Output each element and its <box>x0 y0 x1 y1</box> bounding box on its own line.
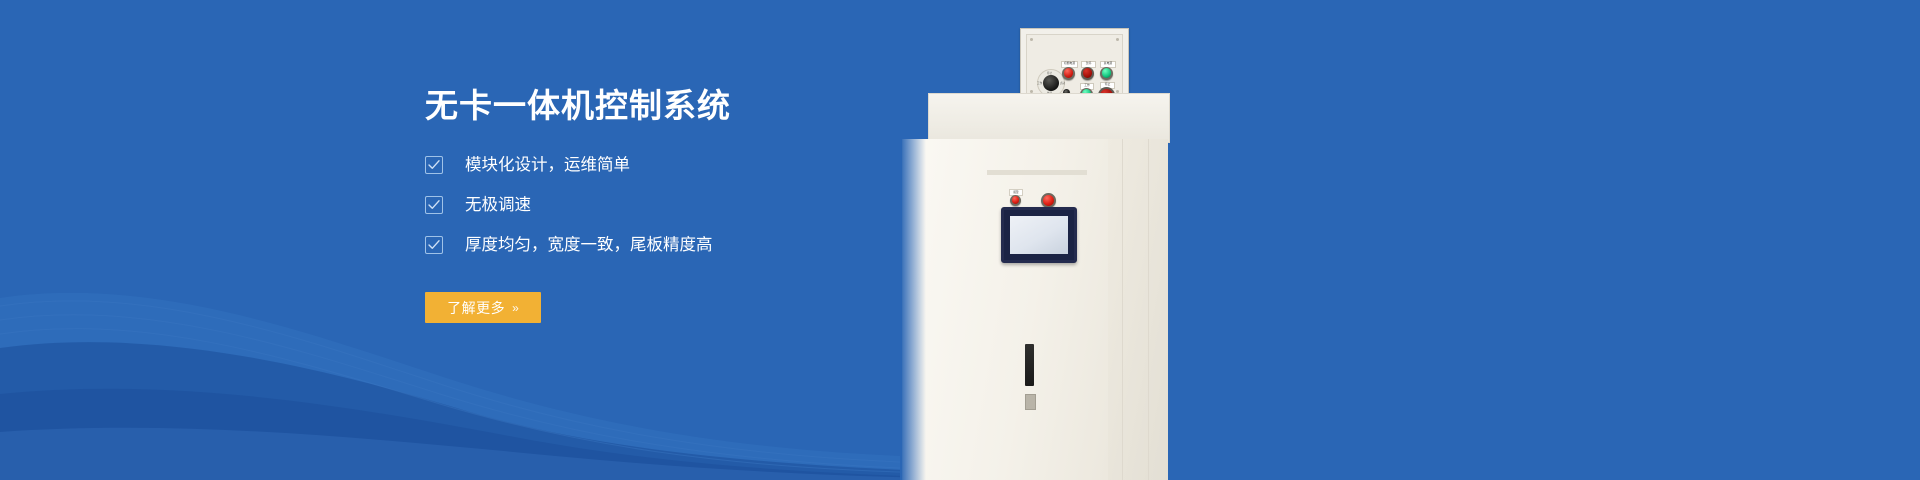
screw-icon <box>1030 38 1033 41</box>
feature-item-3: 厚度均匀，宽度一致，尾板精度高 <box>425 234 1065 256</box>
feature-label: 厚度均匀，宽度一致，尾板精度高 <box>465 234 713 256</box>
pushbutton-red-1[interactable] <box>1062 67 1075 80</box>
feature-label: 模块化设计，运维简单 <box>465 154 630 176</box>
checkbox-checked-icon <box>425 236 443 254</box>
cabinet-side-panel <box>1108 139 1168 480</box>
feature-list: 模块化设计，运维简单 无极调速 厚度均匀，宽度一致，尾板精度高 <box>425 154 1065 256</box>
checkbox-checked-icon <box>425 156 443 174</box>
learn-more-button[interactable]: 了解更多 » <box>425 292 541 323</box>
door-latch <box>1025 394 1036 410</box>
hero-content: 无卡一体机控制系统 模块化设计，运维简单 无极调速 <box>425 86 1065 323</box>
pushbutton-red-2[interactable] <box>1081 67 1094 80</box>
hero-banner: 无卡一体机控制系统 模块化设计，运维简单 无极调速 <box>0 0 1920 480</box>
knob-label-left: 工作 <box>1037 81 1042 85</box>
hero-title: 无卡一体机控制系统 <box>425 86 1065 126</box>
screw-icon <box>1116 38 1119 41</box>
knob-label-right: 点动 <box>1060 81 1065 85</box>
chevron-right-icon: » <box>512 301 519 315</box>
feature-item-2: 无极调速 <box>425 194 1065 216</box>
checkbox-checked-icon <box>425 196 443 214</box>
feature-label: 无极调速 <box>465 194 531 216</box>
learn-more-label: 了解更多 <box>447 298 505 318</box>
door-vent-slot <box>1025 344 1034 386</box>
knob-label-top: 停止 <box>1047 71 1052 75</box>
feature-item-1: 模块化设计，运维简单 <box>425 154 1065 176</box>
pushbutton-green-1[interactable] <box>1100 67 1113 80</box>
